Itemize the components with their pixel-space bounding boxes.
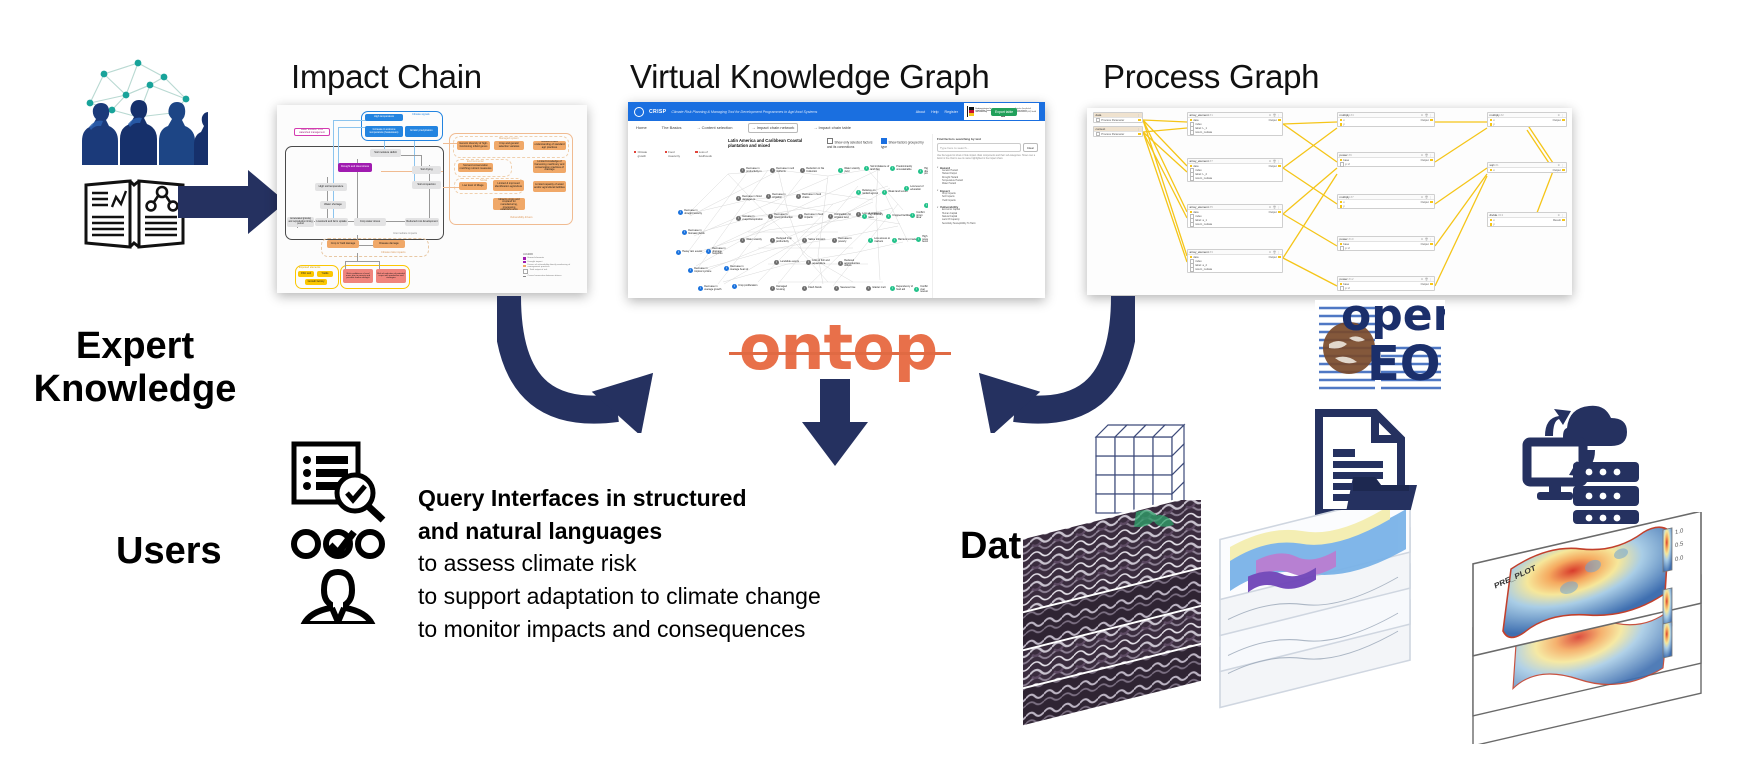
network-edges (628, 156, 928, 298)
impact-chain-title: Impact Chain (291, 58, 482, 96)
tab-the-basics[interactable]: The Basics (662, 125, 682, 130)
port-icon[interactable] (1340, 119, 1343, 122)
node-id: #7 (1210, 159, 1213, 163)
node-output-label: Output (1421, 159, 1429, 162)
node-title: power (1340, 237, 1348, 241)
impact-chain-hazard-node[interactable]: Drought and Heat stress (338, 163, 372, 172)
legend-group-item[interactable]: Sensitivity Susceptibility To Harm (937, 223, 1038, 226)
impact-chain-legend-item: Total output of risk (530, 269, 548, 271)
node-title: power (1340, 153, 1348, 157)
choropleth-map-stack-icon: 1.00.50.0 PRE_PLOT (1455, 512, 1763, 744)
document-folder-icon (1305, 405, 1420, 520)
node-title: multiply (1340, 195, 1350, 199)
node-menu-icon[interactable]: ⋮ (1138, 128, 1141, 131)
network-node[interactable]: iDependency of food aid (890, 286, 916, 291)
users-label: Users (116, 530, 222, 573)
process-graph-wires (1087, 108, 1572, 295)
node-output-label: Output (1421, 119, 1429, 122)
node-row-label: x (1493, 219, 1494, 222)
port-icon[interactable] (1340, 246, 1345, 251)
node-output-label: Output (1421, 201, 1429, 204)
impact-chain-node[interactable]: Crop and genetic selection varieties (494, 141, 524, 150)
process-graph-node[interactable]: multiply #4⚙ 🗑 ⋮ xOutput y (1337, 112, 1435, 127)
chevron-down-icon[interactable]: ▾ (937, 206, 938, 209)
node-id: #2 (1501, 113, 1504, 117)
network-node[interactable]: iConflict over resources (914, 286, 928, 294)
network-node[interactable]: iDecrease in flood damages to (736, 196, 762, 201)
legend-swatch (523, 257, 526, 259)
network-node[interactable]: iReduced agroindustries outlets (838, 260, 864, 268)
network-node[interactable]: iDecrease in irrigation (766, 194, 792, 199)
impact-chain-node[interactable]: High temperature (365, 114, 403, 121)
network-node[interactable]: iDecrease in average heat str (724, 266, 750, 271)
node-menu-icon[interactable]: ⚙ 🗑 ⋮ (1269, 160, 1281, 163)
node-output-label: Output (1553, 119, 1561, 122)
process-graph-node[interactable]: power #12⚙ 🗑 ⋮ baseOutput p: 2 (1337, 276, 1435, 291)
node-id: #10 (1349, 237, 1354, 241)
vkg-sidebar-title: Find factors searching by text (937, 137, 1038, 141)
port-icon[interactable] (1190, 267, 1195, 272)
port-icon[interactable] (1490, 219, 1493, 222)
impact-chain-node[interactable]: Genetic diversity of high-functioning in… (457, 141, 490, 150)
impact-chain-node[interactable]: Limited capacity of water and/or agricul… (533, 181, 566, 192)
network-node[interactable]: iDecrease in biomass yields (682, 230, 708, 235)
vkg-nav-help[interactable]: Help (931, 110, 938, 114)
node-row-label: y (1343, 123, 1344, 126)
impact-chain-note[interactable]: Water diffusion: Poor watershed manageme… (294, 128, 330, 136)
node-title: array_element (1190, 159, 1209, 163)
node-row-label: p: 2 (1345, 163, 1349, 166)
legend-dot (695, 151, 697, 153)
ontop-logo: ontop (748, 317, 928, 379)
vkg-heading: Latin America and Caribbean Coastal plan… (728, 138, 808, 149)
node-menu-icon[interactable]: ⚙ 🗑 ⋮ (1421, 114, 1433, 117)
node-output-label: Output (1269, 119, 1277, 122)
network-node[interactable]: iLack of irrigation infrastr (924, 202, 928, 210)
network-node[interactable]: iLandslide events (774, 260, 799, 265)
impact-chain-node[interactable]: Soil drying (412, 166, 441, 174)
node-menu-icon[interactable]: ⚙ 🗑 ⋮ (1269, 114, 1281, 117)
node-menu-icon[interactable]: ⚙ 🗑 ⋮ (1421, 196, 1433, 199)
network-node[interactable]: iDecrease in average growth (698, 286, 724, 291)
connector (345, 261, 346, 269)
process-graph-node[interactable]: array_element #3⚙ 🗑 ⋮ dataOutput index l… (1187, 249, 1283, 273)
query-bold-line1: Query Interfaces in structured (418, 482, 938, 515)
vkg-checkbox-group-by-type[interactable]: Show factors grouped by type (881, 138, 925, 149)
impact-chain-node[interactable]: Access to and understanding of standard … (533, 141, 566, 150)
vkg-sidebar-note: Use the legend to show or hide impact ch… (937, 155, 1038, 162)
exposed-elements-group-label: Exposed elements (299, 266, 320, 269)
node-id: #4 (1351, 113, 1354, 117)
impact-chain-node[interactable]: Risk confidence of rural areas due to po… (343, 269, 373, 283)
impact-chain-legend-item: Drivers of vulnerability directly weaken… (528, 264, 582, 268)
output-port-icon[interactable] (1430, 119, 1433, 122)
node-menu-icon[interactable]: ⚙ 🗑 ⋮ (1269, 251, 1281, 254)
export-table-button[interactable]: Export table (991, 108, 1017, 116)
network-node[interactable]: iSea-level rise (834, 286, 855, 291)
impact-chain-screenshot[interactable]: Climate signals Intermediate impacts Vul… (277, 105, 587, 293)
port-icon[interactable] (1490, 119, 1493, 122)
vuln-sub-1-label: Managed system (499, 137, 519, 140)
node-id: #3 (1210, 250, 1213, 254)
port-icon[interactable] (1190, 130, 1195, 135)
process-graph-node[interactable]: multiply #7⚙ 🗑 ⋮ xOutput y (1337, 194, 1435, 209)
tab-impact-chain-table[interactable]: → Impact chain table (813, 125, 851, 130)
vkg-sidebar: Find factors searching by text Type here… (932, 134, 1042, 298)
process-graph-node[interactable]: divide #13⚙ ⋮ xResult y (1487, 212, 1567, 227)
network-node[interactable]: iSoil imbalance of land deg (864, 166, 890, 171)
impact-chain-node[interactable]: Increase in extreme temperature (heatwav… (365, 126, 403, 137)
node-menu-icon[interactable]: ⚙ 🗑 ⋮ (1421, 278, 1433, 281)
network-node[interactable]: iHigh poverty levels (916, 236, 928, 244)
impact-chain-node[interactable]: Soil and conservation mulching nutrient … (458, 163, 493, 172)
impact-chain-node[interactable]: Growth factory (305, 279, 327, 285)
giz-subtext: Deutsche Gesellschaft für Internationale… (1015, 109, 1036, 115)
node-title: context (1096, 127, 1106, 131)
tab-home[interactable]: Home (636, 125, 647, 130)
node-menu-icon[interactable]: ⚙ ⋮ (1558, 164, 1565, 167)
node-title: sqrt (1490, 163, 1495, 167)
network-node[interactable]: iBarriers to trade (892, 238, 916, 243)
node-row-label: Process Parameter (1101, 133, 1124, 136)
node-row-label: p: 2 (1345, 287, 1349, 290)
node-row-label: y (1493, 123, 1494, 126)
node-menu-icon[interactable]: ⋮ (1138, 114, 1141, 117)
node-row-label: Process Parameter (1101, 119, 1124, 122)
impact-chain-node[interactable]: Competition from coffee tobacco crops an… (493, 198, 525, 210)
network-node[interactable]: iHigh disease prevalence (918, 168, 928, 176)
legend-group-item[interactable]: Water Hazard (937, 183, 1038, 186)
output-port-icon[interactable] (1430, 159, 1433, 162)
vkg-heading-line2: plantation and mixed (728, 143, 808, 148)
impact-chain-node[interactable]: Water shortage (320, 201, 346, 209)
output-port-icon[interactable] (1430, 243, 1433, 246)
node-row-label: return_nodata (1195, 268, 1212, 271)
connector (379, 261, 380, 269)
vkg-title: Virtual Knowledge Graph (630, 58, 989, 96)
node-menu-icon[interactable]: ⚙ 🗑 ⋮ (1269, 206, 1281, 209)
output-port-icon[interactable] (1278, 119, 1281, 122)
node-row-label: x (1343, 119, 1344, 122)
node-menu-icon[interactable]: ⚙ 🗑 ⋮ (1421, 154, 1433, 157)
impact-chain-legend-title: LEGEND (523, 253, 581, 256)
connector (333, 120, 334, 226)
impact-chain-legend-item: Hazard elements (528, 257, 545, 259)
node-id: #13 (1498, 213, 1503, 217)
node-row-label: x (1493, 119, 1494, 122)
network-node[interactable]: iCropped facilities (886, 214, 911, 219)
port-icon[interactable] (1340, 162, 1345, 167)
output-port-icon[interactable] (1138, 133, 1141, 136)
network-node[interactable]: iDecrease in tropical cyclone (688, 268, 714, 273)
connector (443, 187, 459, 188)
open-book-chart-icon (82, 173, 187, 255)
node-id: #1 (1495, 163, 1498, 167)
process-graph-node[interactable]: array_element #7⚙ 🗑 ⋮ dataOutput index l… (1187, 158, 1283, 182)
checkbox-label: Show only selected factors and its conne… (827, 141, 872, 149)
node-title: data (1096, 113, 1102, 117)
search-placeholder: Type here to search... (940, 146, 969, 150)
process-graph-title: Process Graph (1103, 58, 1319, 96)
impact-chain-legend-item: Causal connection between drivers (528, 275, 562, 277)
network-node[interactable]: iDecrease in drought severity (678, 210, 704, 215)
node-id: #9 (1349, 153, 1352, 157)
node-output-label: Result (1553, 219, 1561, 222)
checkbox-icon[interactable] (827, 138, 833, 144)
query-line4: to support adaptation to climate change (418, 580, 938, 613)
chevron-down-icon[interactable]: ▾ (937, 189, 938, 192)
legend-dot (665, 151, 667, 153)
output-port-icon[interactable] (1278, 165, 1281, 168)
vkg-nav-about[interactable]: About (916, 110, 925, 114)
vkg-logo-icon (634, 107, 644, 117)
query-line5: to monitor impacts and consequences (418, 613, 938, 646)
network-node[interactable]: iLow level of education (904, 186, 928, 191)
output-port-icon[interactable] (1430, 283, 1433, 286)
network-node[interactable]: iIncrease in evapotranspiration (736, 216, 762, 221)
network-node[interactable]: iDamaged housing (770, 286, 796, 291)
network-node[interactable]: iDecrease in drainage footprints (706, 248, 732, 256)
legend-swatch (523, 265, 526, 267)
openeo-eo-text: EO (1367, 342, 1441, 386)
network-node[interactable]: iFlash floods (802, 286, 822, 291)
network-node[interactable]: iDecrease in food impacts (798, 214, 824, 219)
port-icon[interactable] (1490, 169, 1493, 172)
vulnerability-group-label: Vulnerability drivers (510, 216, 533, 219)
node-title: multiply (1340, 113, 1350, 117)
impact-chain-node[interactable]: Soil moisture deficit (370, 149, 401, 157)
legend-swatch (523, 261, 526, 263)
vkg-screenshot[interactable]: CRISP Climate Risk Planning & Managing T… (628, 102, 1045, 298)
network-node[interactable]: iDecrease in forest production (768, 214, 794, 219)
impact-chain-node[interactable]: Soil compaction (412, 181, 441, 189)
search-input[interactable]: Type here to search... (937, 143, 1021, 152)
node-row-label: return_nodata (1195, 177, 1212, 180)
bmz-mark-icon (969, 107, 974, 116)
node-title: array_element (1190, 205, 1209, 209)
crop-damage-group-label: Climate risks impacts (381, 251, 406, 254)
node-title: array_element (1190, 113, 1209, 117)
output-port-icon[interactable] (1430, 201, 1433, 204)
impact-chain-node[interactable]: Accelerated growing and reproduction tim… (287, 217, 314, 227)
output-port-icon[interactable] (1138, 119, 1141, 122)
connector (345, 261, 379, 262)
clear-search-button[interactable]: Clear (1023, 143, 1038, 152)
expert-knowledge-line1: Expert (20, 325, 250, 368)
node-output-label: Output (1269, 256, 1277, 259)
impact-chain-node[interactable]: Reduced root development (405, 218, 439, 226)
node-output-label: Output (1269, 211, 1277, 214)
port-icon[interactable] (1340, 201, 1343, 204)
checkbox-icon[interactable] (881, 138, 887, 144)
network-node[interactable]: iPredominantly unsustainable (890, 166, 916, 171)
impact-chain-node[interactable]: Limited knowledge of harvesting machiner… (533, 160, 566, 173)
impact-chain-node[interactable]: High soil temperature (315, 183, 347, 191)
impact-chain-node[interactable]: Low level of tillage (459, 182, 487, 190)
node-menu-icon[interactable]: ⚙ 🗑 ⋮ (1421, 238, 1433, 241)
network-node[interactable]: iCrop proliferation (732, 284, 757, 289)
node-row-label: p: 2 (1345, 247, 1349, 250)
port-icon[interactable] (1096, 118, 1101, 123)
output-port-icon[interactable] (1562, 219, 1565, 222)
legend-swatch (523, 276, 526, 277)
node-title: multiply (1490, 113, 1500, 117)
process-graph-node[interactable]: array_element #5⚙ 🗑 ⋮ dataOutput index l… (1187, 204, 1283, 228)
cloud-server-icon (1515, 396, 1645, 524)
network-node[interactable]: iDecrease in poverty (832, 238, 858, 243)
process-graph-node[interactable]: array_element #1⚙ 🗑 ⋮ dataOutput index l… (1187, 112, 1283, 136)
ontop-wordmark: ontop (739, 317, 937, 379)
connector (357, 253, 358, 261)
port-icon[interactable] (1340, 205, 1343, 208)
process-graph-node[interactable]: sqrt #1⚙ ⋮ xOutput (1487, 162, 1567, 173)
node-output-label: Output (1421, 283, 1429, 286)
climate-signals-group-label: Climate signals (412, 113, 430, 116)
process-graph-node[interactable]: data⋮ Process Parameter (1093, 112, 1143, 123)
port-icon[interactable] (1190, 176, 1195, 181)
output-port-icon[interactable] (1278, 256, 1281, 259)
tab-impact-chain-network[interactable]: → Impact chain network (748, 123, 799, 133)
node-row-label: y (1343, 205, 1344, 208)
tab-content-selection[interactable]: → Content selection (696, 125, 732, 130)
chevron-down-icon[interactable]: ▾ (937, 166, 938, 169)
port-icon[interactable] (1340, 286, 1345, 291)
network-node[interactable]: iLoss of fish and aquaculture (806, 260, 832, 265)
node-output-label: Output (1269, 165, 1277, 168)
node-id: #12 (1349, 277, 1354, 281)
expert-knowledge-label: Expert Knowledge (20, 325, 250, 410)
node-row-label: y (1493, 223, 1494, 226)
node-row-label: x (1493, 169, 1494, 172)
impact-chain-node[interactable]: Livestock and farm uptake (315, 218, 348, 226)
impact-chain-legend-item: Drought impact (528, 261, 543, 263)
vkg-checkbox-selected-factors[interactable]: Show only selected factors and its conne… (827, 138, 875, 149)
node-row-label: x (1343, 201, 1344, 204)
impact-chain-node[interactable]: Risk of reduction of potential crops wit… (376, 269, 406, 283)
vkg-tagline: Climate Risk Planning & Managing Tool fo… (671, 110, 817, 114)
port-icon[interactable] (1096, 132, 1101, 137)
impact-chain-node[interactable]: Yields (317, 271, 333, 277)
vector-layer-stack-icon (1210, 510, 1460, 735)
impact-chain-node[interactable]: Crop & Yield damage (327, 240, 359, 248)
vkg-network-canvas[interactable]: iDecrease in drought severity iDecrease … (628, 156, 928, 298)
network-node[interactable]: iReduced crop productivity (770, 238, 796, 243)
vkg-app-bar: CRISP Climate Risk Planning & Managing T… (628, 102, 1045, 121)
port-icon[interactable] (1190, 222, 1195, 227)
node-output-label: Output (1421, 243, 1429, 246)
node-id: #5 (1210, 205, 1213, 209)
output-port-icon[interactable] (1278, 211, 1281, 214)
node-title: array_element (1190, 250, 1209, 254)
node-menu-icon[interactable]: ⚙ ⋮ (1558, 214, 1565, 217)
network-node[interactable]: iReduction in Na Collection (800, 168, 826, 173)
network-node[interactable]: iGlacier melt (866, 286, 886, 291)
network-node[interactable]: iCompetition for irrigated land (828, 214, 854, 219)
vkg-nav-register[interactable]: Register (945, 110, 958, 114)
openeo-open-text: open (1341, 300, 1445, 336)
network-node[interactable]: iSaline intrusion (802, 238, 825, 243)
impact-chain-node[interactable]: Erratic precipitation (405, 126, 438, 137)
expert-knowledge-line2: Knowledge (20, 368, 250, 411)
port-icon[interactable] (1340, 123, 1343, 126)
node-row-label: return_nodata (1195, 131, 1212, 134)
process-graph-node[interactable]: multiply #2⚙ ⋮ xOutput y (1487, 112, 1567, 127)
impact-chain-node[interactable]: Crop water stress (354, 218, 386, 226)
output-port-icon[interactable] (1562, 119, 1565, 122)
network-node[interactable]: iDecrease in food chains (796, 194, 822, 199)
query-bold-line2: and natural languages (418, 515, 938, 548)
node-row-label: return_nodata (1195, 223, 1212, 226)
impact-chain-node[interactable]: Limited & improved identification agricu… (493, 180, 524, 191)
legend-dot (634, 151, 636, 153)
bmz-flag-icon (967, 106, 969, 117)
impact-chain-node[interactable]: FSC soil (298, 271, 314, 277)
vkg-tab-bar: Home The Basics → Content selection → Im… (628, 121, 1045, 135)
node-title: divide (1490, 213, 1498, 217)
query-interfaces-block: Query Interfaces in structured and natur… (418, 482, 938, 645)
network-people-icon (68, 55, 208, 165)
openeo-logo: open EO (1315, 300, 1445, 396)
network-node[interactable]: iHigh illiteracy rates (862, 214, 888, 219)
legend-group-item[interactable]: Yield Impacts (937, 200, 1038, 203)
node-id: #7 (1351, 195, 1354, 199)
node-menu-icon[interactable]: ⚙ ⋮ (1558, 114, 1565, 117)
connector (401, 155, 421, 156)
intermediate-impacts-group-label: Intermediate impacts (393, 232, 417, 235)
network-node[interactable]: iWater scarcity (740, 238, 762, 243)
checklist-magnifier-icon (288, 438, 388, 523)
port-icon[interactable] (1490, 123, 1493, 126)
network-node[interactable]: iReliance on rainfed agricul (856, 190, 882, 195)
vkg-brand: CRISP (649, 109, 666, 115)
network-node[interactable]: iWater scarcity yield (838, 168, 864, 173)
port-icon[interactable] (1490, 223, 1493, 226)
process-graph-node[interactable]: power #10⚙ 🗑 ⋮ baseOutput p: 2 (1337, 236, 1435, 251)
node-id: #1 (1210, 113, 1213, 117)
user-multiple-choice-icon (288, 528, 388, 624)
network-node[interactable]: iDecrease in soil nutrients (770, 168, 796, 173)
curved-arrow-up-left-icon (497, 288, 697, 433)
impact-chain-node[interactable]: Disease damage (373, 240, 405, 248)
query-line3: to assess climate risk (418, 547, 938, 580)
legend-swatch (523, 269, 528, 273)
impact-chain-legend: LEGEND Hazard elements Drought impact Dr… (523, 253, 581, 289)
output-port-icon[interactable] (1562, 169, 1565, 172)
node-title: power (1340, 277, 1348, 281)
network-node[interactable]: iLow access to markets (868, 238, 894, 243)
connector (414, 141, 415, 181)
process-graph-node[interactable]: context⋮ Process Parameter (1093, 126, 1143, 137)
process-graph-screenshot[interactable]: data⋮ Process Parameter context⋮ Process… (1087, 108, 1572, 295)
checkbox-label: Show factors grouped by type (881, 141, 924, 149)
node-output-label: Output (1553, 169, 1561, 172)
network-node[interactable]: iDecrease in productivity in (740, 168, 766, 173)
network-node[interactable]: iHeavy rain events (676, 250, 702, 255)
arrow-right-icon (178, 168, 288, 236)
ontop-strikethrough (729, 352, 951, 355)
connector (338, 127, 339, 167)
network-node[interactable]: iConflict group area (910, 212, 928, 220)
process-graph-node[interactable]: power #9⚙ 🗑 ⋮ baseOutput p: 2 (1337, 152, 1435, 167)
